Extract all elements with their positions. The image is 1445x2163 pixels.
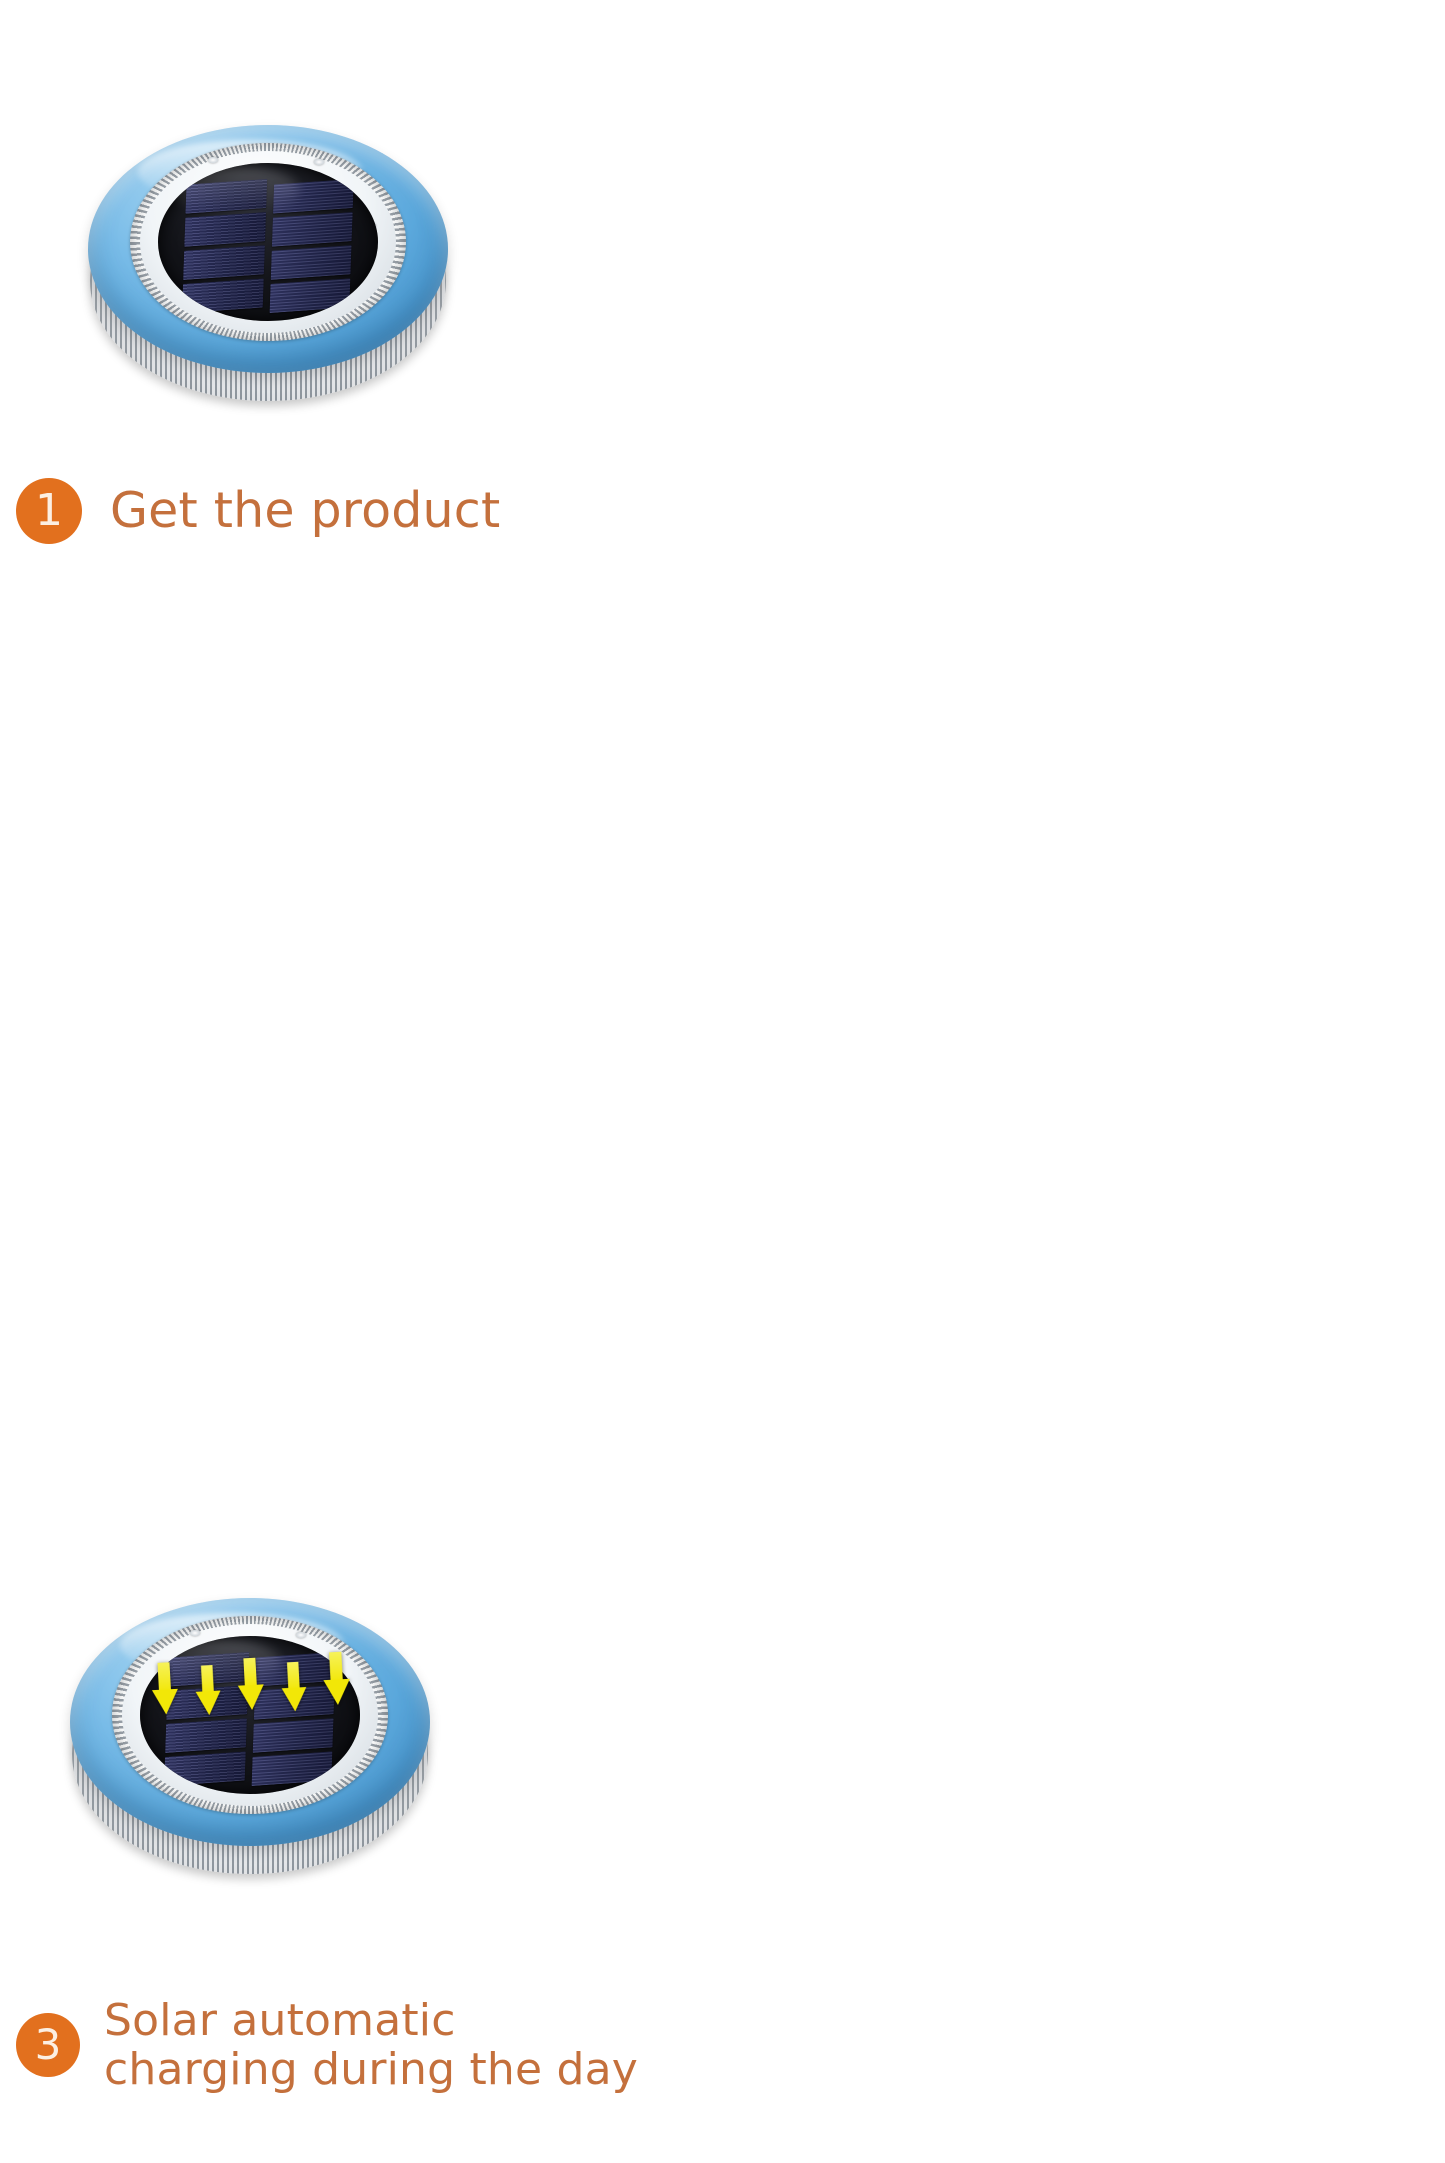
puck-body [78,95,458,395]
down-arrow-icon [151,1662,180,1715]
solar-cell [271,212,352,247]
solar-cell [182,278,263,313]
step-4-cell: 4 Lights up automatically at night [760,700,1445,1406]
solar-cell [252,1718,333,1753]
puck-body [60,1568,440,1868]
led-dot [190,1630,200,1636]
step-3-label: Solar automatic charging during the day [104,1996,638,2095]
solar-cell [183,245,264,280]
down-arrow-icon [322,1651,351,1705]
step-1-cell: 1 Get the product [0,0,760,700]
step-number-badge-3: 3 [16,2013,80,2077]
down-arrow-icon [194,1665,222,1716]
charging-arrows-group [150,1651,351,1727]
product-image-step-1 [78,95,458,425]
step-1-label: Get the product [110,483,500,540]
solar-lens-disc [158,163,378,321]
solar-cell [184,212,265,247]
step-3-cell: 3 Solar automatic charging during the da… [0,700,760,1406]
led-dot [208,157,218,163]
step-number-badge-1: 1 [16,478,82,544]
led-dot [314,159,324,165]
product-image-step-3 [60,1568,440,1898]
step-3-caption: 3 Solar automatic charging during the da… [16,1996,638,2095]
down-arrow-icon [280,1661,307,1712]
step-2-cell: 2 Turn on [760,0,1445,700]
solar-cell [273,179,354,214]
solar-cell [251,1751,332,1786]
solar-cell [164,1751,245,1786]
solar-cell [270,245,351,280]
solar-cell [269,278,350,313]
solar-cell-grid [182,173,354,313]
solar-cell [185,179,266,214]
step-1-caption: 1 Get the product [16,478,500,544]
instruction-infographic: 1 Get the product [0,0,1445,1406]
down-arrow-icon [236,1657,265,1710]
led-dot [296,1632,306,1638]
